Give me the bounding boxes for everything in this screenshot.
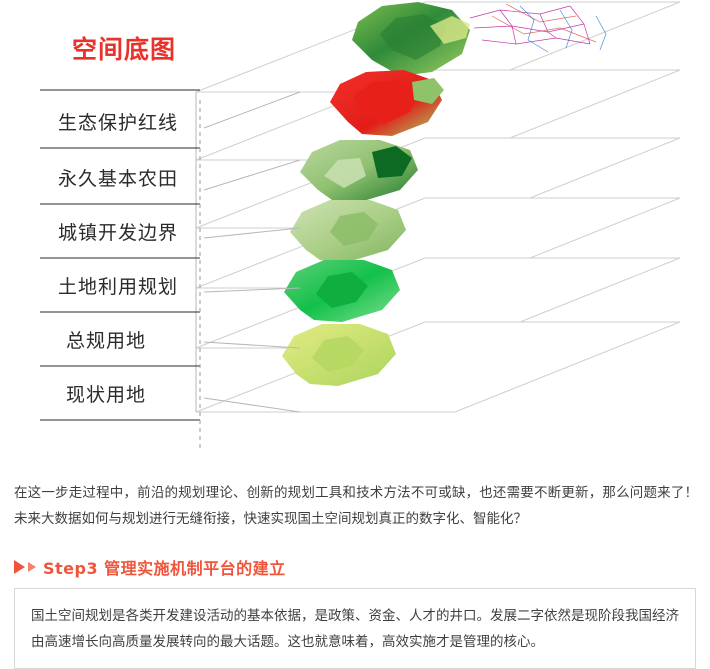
- layer-label-existing-land: 现状用地: [66, 380, 146, 407]
- arrow-right-small-icon: [28, 562, 36, 572]
- page-root: 空间底图 生态保护红线 永久基本农田 城镇开发边界 土地利用规划 总规用地 现状…: [0, 0, 710, 668]
- body-paragraph-1: 在这一步走过程中，前沿的规划理论、创新的规划工具和技术方法不可或缺，也还需要不断…: [14, 480, 698, 532]
- label-separators: [40, 90, 200, 420]
- layer-label-basic-farmland: 永久基本农田: [58, 164, 178, 191]
- layer-label-master-plan-land: 总规用地: [66, 326, 146, 353]
- step3-label: Step3 管理实施机制平台的建立: [43, 555, 286, 579]
- layered-map-diagram: 空间底图 生态保护红线 永久基本农田 城镇开发边界 土地利用规划 总规用地 现状…: [0, 0, 710, 462]
- layer-label-land-use-plan: 土地利用规划: [58, 272, 178, 299]
- layer-label-ecological-redline: 生态保护红线: [58, 108, 178, 135]
- callout-box: 国土空间规划是各类开发建设活动的基本依据，是政策、资金、人才的井口。发展二字依然…: [14, 588, 696, 669]
- step3-heading: Step3 管理实施机制平台的建立: [14, 555, 286, 579]
- diagram-title: 空间底图: [72, 30, 176, 66]
- layer-label-urban-boundary: 城镇开发边界: [58, 218, 178, 245]
- arrow-right-icon: [14, 560, 25, 574]
